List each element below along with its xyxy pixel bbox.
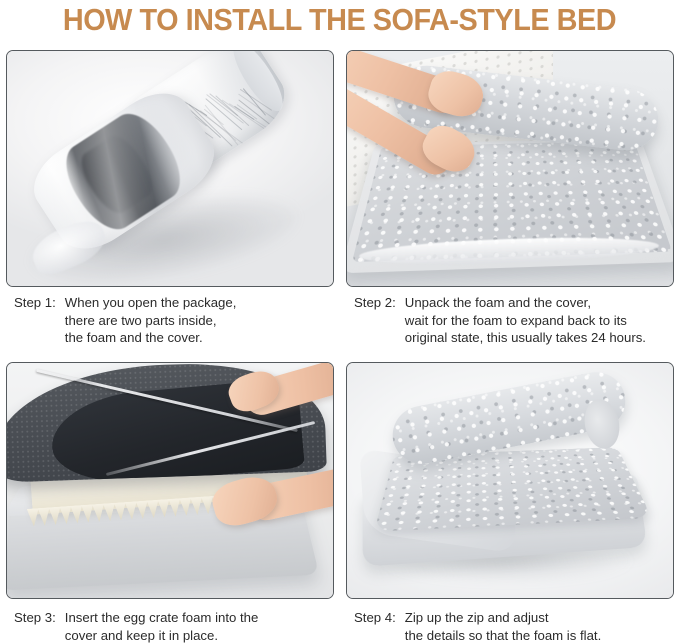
- page-title: HOW TO INSTALL THE SOFA-STYLE BED: [24, 0, 655, 42]
- step-2-text: Unpack the foam and the cover, wait for …: [405, 294, 674, 347]
- step-3-label: Step 3:: [14, 609, 65, 627]
- step-2-image-panel: [346, 50, 674, 287]
- step-4-image-panel: [346, 362, 674, 599]
- illustration-vacuum-rolls: [7, 51, 333, 286]
- step-1-caption: Step 1: When you open the package, there…: [14, 294, 334, 347]
- step-4-label: Step 4:: [354, 609, 405, 627]
- step-4-text: Zip up the zip and adjust the details so…: [405, 609, 674, 644]
- step-2-caption: Step 2: Unpack the foam and the cover, w…: [354, 294, 674, 347]
- illustration-finished-bed: [347, 363, 673, 598]
- step-1-image-panel: [6, 50, 334, 287]
- step-1-label: Step 1:: [14, 294, 65, 312]
- illustration-unrolling-cover: [347, 51, 673, 286]
- step-1-text: When you open the package, there are two…: [65, 294, 334, 347]
- illustration-insert-foam: [7, 363, 333, 598]
- step-3-text: Insert the egg crate foam into the cover…: [65, 609, 334, 644]
- step-3-caption: Step 3: Insert the egg crate foam into t…: [14, 609, 334, 644]
- step-2-label: Step 2:: [354, 294, 405, 312]
- step-3-image-panel: [6, 362, 334, 599]
- step-4-caption: Step 4: Zip up the zip and adjust the de…: [354, 609, 674, 644]
